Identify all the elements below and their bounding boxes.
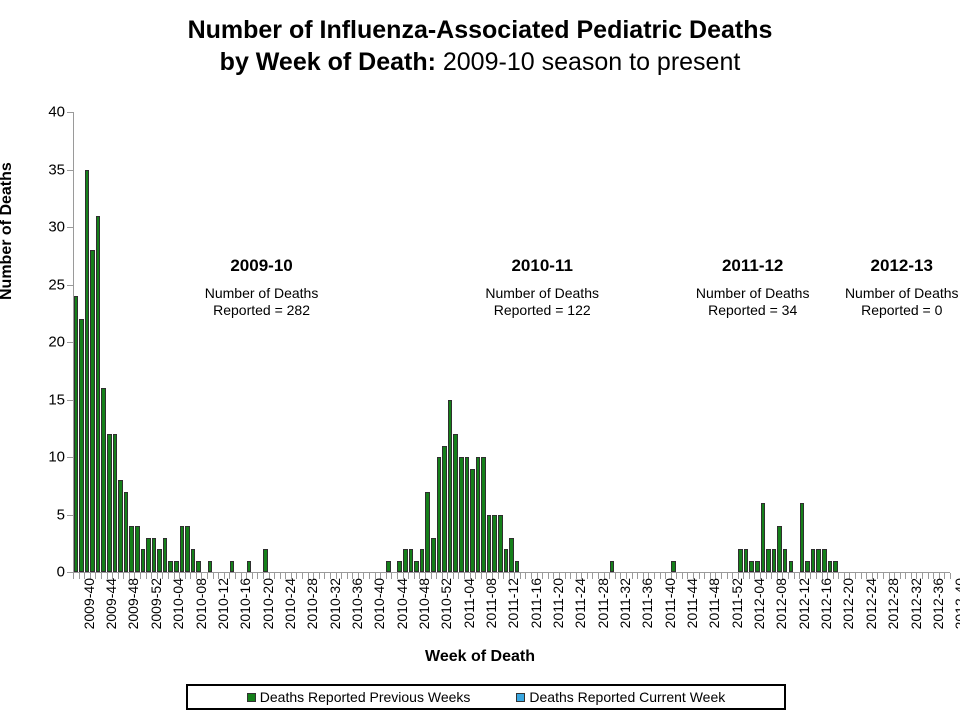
bar[interactable]: [168, 561, 173, 573]
x-tick-label: 2011-28: [595, 578, 611, 628]
x-tick-label: 2012-20: [840, 578, 856, 629]
title-line-2-light: 2009-10 season to present: [443, 48, 740, 76]
x-tick-label: 2010-28: [304, 578, 320, 629]
y-tick: [67, 227, 73, 228]
title-line-1: Number of Influenza-Associated Pediatric…: [0, 14, 960, 46]
bar[interactable]: [453, 434, 458, 572]
y-tick-label: 35: [5, 161, 65, 178]
bar[interactable]: [247, 561, 252, 573]
bar[interactable]: [420, 549, 425, 572]
y-tick-label: 30: [5, 219, 65, 236]
bar[interactable]: [766, 549, 771, 572]
y-tick: [67, 170, 73, 171]
bar[interactable]: [476, 457, 481, 572]
bar[interactable]: [772, 549, 777, 572]
x-tick-label: 2009-44: [103, 578, 119, 629]
season-annotation-2009-10: 2009-10Number of DeathsReported = 282: [152, 256, 372, 319]
bar[interactable]: [414, 561, 419, 573]
bar[interactable]: [789, 561, 794, 573]
bar[interactable]: [509, 538, 514, 573]
x-tick-label: 2011-08: [483, 578, 499, 628]
y-tick-label: 10: [5, 449, 65, 466]
bar[interactable]: [208, 561, 213, 573]
season-annotation-2012-13: 2012-13Number of DeathsReported = 0: [792, 256, 960, 319]
bar[interactable]: [805, 561, 810, 573]
bar[interactable]: [671, 561, 676, 573]
x-tick-label: 2010-52: [438, 578, 454, 629]
season-label: 2010-11: [432, 256, 652, 276]
bar[interactable]: [816, 549, 821, 572]
bar[interactable]: [403, 549, 408, 572]
bar[interactable]: [146, 538, 151, 573]
bar[interactable]: [811, 549, 816, 572]
bar[interactable]: [163, 538, 168, 573]
x-tick-label: 2012-16: [818, 578, 834, 629]
x-tick-label: 2011-48: [706, 578, 722, 628]
bar[interactable]: [113, 434, 118, 572]
bar[interactable]: [777, 526, 782, 572]
bar[interactable]: [196, 561, 201, 573]
x-tick-label: 2010-12: [215, 578, 231, 629]
x-axis-tick-labels: 2009-402009-442009-482009-522010-042010-…: [73, 578, 950, 644]
bar[interactable]: [761, 503, 766, 572]
y-tick-label: 5: [5, 506, 65, 523]
x-tick-label: 2012-04: [751, 578, 767, 629]
legend-swatch-icon: [516, 693, 525, 702]
x-tick-label: 2012-08: [773, 578, 789, 629]
bar[interactable]: [174, 561, 179, 573]
x-tick: [950, 573, 951, 579]
bar[interactable]: [79, 319, 84, 572]
title-line-2: by Week of Death: 2009-10 season to pres…: [0, 46, 960, 78]
x-tick-label: 2010-44: [394, 578, 410, 629]
legend-entry[interactable]: Deaths Reported Previous Weeks: [247, 689, 471, 705]
title-line-2-strong: by Week of Death:: [220, 48, 436, 76]
bar[interactable]: [437, 457, 442, 572]
legend-entry[interactable]: Deaths Reported Current Week: [516, 689, 725, 705]
x-tick-label: 2009-52: [148, 578, 164, 629]
bar[interactable]: [822, 549, 827, 572]
bar[interactable]: [431, 538, 436, 573]
bar[interactable]: [783, 549, 788, 572]
season-deaths-caption: Number of Deaths: [152, 285, 372, 302]
bar[interactable]: [124, 492, 129, 573]
bar[interactable]: [107, 434, 112, 572]
bar[interactable]: [135, 526, 140, 572]
bar[interactable]: [448, 400, 453, 573]
x-tick-label: 2011-12: [505, 578, 521, 628]
bar[interactable]: [96, 216, 101, 573]
x-tick-label: 2010-40: [371, 578, 387, 629]
bar[interactable]: [828, 561, 833, 573]
x-tick-label: 2011-20: [550, 578, 566, 628]
bar[interactable]: [90, 250, 95, 572]
chart-root: Number of Influenza-Associated Pediatric…: [0, 0, 960, 720]
x-tick-label: 2012-12: [796, 578, 812, 629]
x-tick-label: 2011-16: [528, 578, 544, 628]
legend-label: Deaths Reported Current Week: [529, 689, 725, 705]
chart-title: Number of Influenza-Associated Pediatric…: [0, 14, 960, 78]
bar[interactable]: [833, 561, 838, 573]
bar[interactable]: [157, 549, 162, 572]
y-tick: [67, 285, 73, 286]
x-tick-label: 2011-40: [662, 578, 678, 628]
y-tick: [67, 457, 73, 458]
bar[interactable]: [749, 561, 754, 573]
season-label: 2009-10: [152, 256, 372, 276]
x-tick-label: 2010-36: [349, 578, 365, 629]
season-deaths-caption: Number of Deaths: [792, 285, 960, 302]
bar[interactable]: [263, 549, 268, 572]
bar[interactable]: [515, 561, 520, 573]
bar[interactable]: [101, 388, 106, 572]
bar[interactable]: [755, 561, 760, 573]
x-tick-label: 2010-24: [282, 578, 298, 629]
x-tick-label: 2012-28: [885, 578, 901, 629]
bar[interactable]: [459, 457, 464, 572]
y-tick: [67, 515, 73, 516]
bar[interactable]: [74, 296, 79, 572]
x-tick-label: 2009-48: [125, 578, 141, 629]
bar[interactable]: [129, 526, 134, 572]
x-tick-label: 2010-48: [416, 578, 432, 629]
season-deaths-value: Reported = 282: [152, 302, 372, 319]
bar[interactable]: [504, 549, 509, 572]
x-axis-line: [73, 572, 950, 573]
season-deaths-value: Reported = 122: [432, 302, 652, 319]
y-tick: [67, 400, 73, 401]
y-tick: [67, 112, 73, 113]
y-tick-label: 15: [5, 391, 65, 408]
bar[interactable]: [481, 457, 486, 572]
bar[interactable]: [230, 561, 235, 573]
bar[interactable]: [487, 515, 492, 573]
season-deaths-caption: Number of Deaths: [432, 285, 652, 302]
y-tick: [67, 342, 73, 343]
bar[interactable]: [118, 480, 123, 572]
bar[interactable]: [386, 561, 391, 573]
bar[interactable]: [141, 549, 146, 572]
bar[interactable]: [152, 538, 157, 573]
bar[interactable]: [409, 549, 414, 572]
x-tick-label: 2012-36: [930, 578, 946, 629]
bar[interactable]: [85, 170, 90, 573]
x-tick-label: 2010-08: [193, 578, 209, 629]
bar[interactable]: [800, 503, 805, 572]
bar[interactable]: [425, 492, 430, 573]
x-tick-label: 2011-24: [572, 578, 588, 628]
plot-area: 2009-10Number of DeathsReported = 282201…: [73, 112, 950, 572]
bar[interactable]: [492, 515, 497, 573]
y-tick-label: 0: [5, 564, 65, 581]
bar[interactable]: [180, 526, 185, 572]
chart-legend: Deaths Reported Previous WeeksDeaths Rep…: [186, 684, 786, 710]
bar[interactable]: [185, 526, 190, 572]
x-axis-title: Week of Death: [0, 648, 960, 666]
bar[interactable]: [470, 469, 475, 573]
x-tick-label: 2012-24: [863, 578, 879, 629]
bar[interactable]: [397, 561, 402, 573]
x-tick-label: 2011-32: [617, 578, 633, 628]
x-tick-label: 2012-32: [908, 578, 924, 629]
x-tick-label: 2009-40: [81, 578, 97, 629]
bar[interactable]: [191, 549, 196, 572]
x-tick-label: 2011-52: [729, 578, 745, 628]
bar[interactable]: [465, 457, 470, 572]
x-tick-label: 2011-04: [461, 578, 477, 628]
x-tick-label: 2010-20: [260, 578, 276, 629]
y-tick-label: 20: [5, 334, 65, 351]
bar[interactable]: [442, 446, 447, 573]
x-tick-label: 2010-32: [327, 578, 343, 629]
x-tick-label: 2010-04: [170, 578, 186, 629]
legend-swatch-icon: [247, 693, 256, 702]
y-tick-label: 40: [5, 104, 65, 121]
x-tick-label: 2011-36: [639, 578, 655, 628]
season-annotation-2010-11: 2010-11Number of DeathsReported = 122: [432, 256, 652, 319]
x-tick-label: 2012-40: [952, 578, 960, 629]
bar[interactable]: [744, 549, 749, 572]
season-deaths-value: Reported = 0: [792, 302, 960, 319]
bar[interactable]: [610, 561, 615, 573]
season-label: 2012-13: [792, 256, 960, 276]
x-tick-label: 2010-16: [237, 578, 253, 629]
bar[interactable]: [498, 515, 503, 573]
bar[interactable]: [738, 549, 743, 572]
legend-label: Deaths Reported Previous Weeks: [260, 689, 471, 705]
y-tick-label: 25: [5, 276, 65, 293]
x-tick-label: 2011-44: [684, 578, 700, 628]
